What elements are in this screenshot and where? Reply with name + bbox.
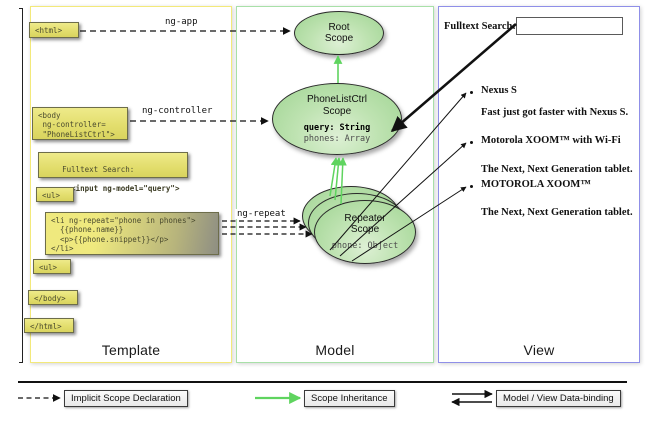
legend-item-scope-inheritance: Scope Inheritance xyxy=(304,390,395,407)
legend-arrows-overlay xyxy=(0,0,645,425)
diagram-canvas: Template Model View <html> <body ng-cont… xyxy=(0,0,645,425)
legend-item-model-view-data-binding: Model / View Data-binding xyxy=(496,390,621,407)
legend-item-implicit-scope-declaration: Implicit Scope Declaration xyxy=(64,390,188,407)
